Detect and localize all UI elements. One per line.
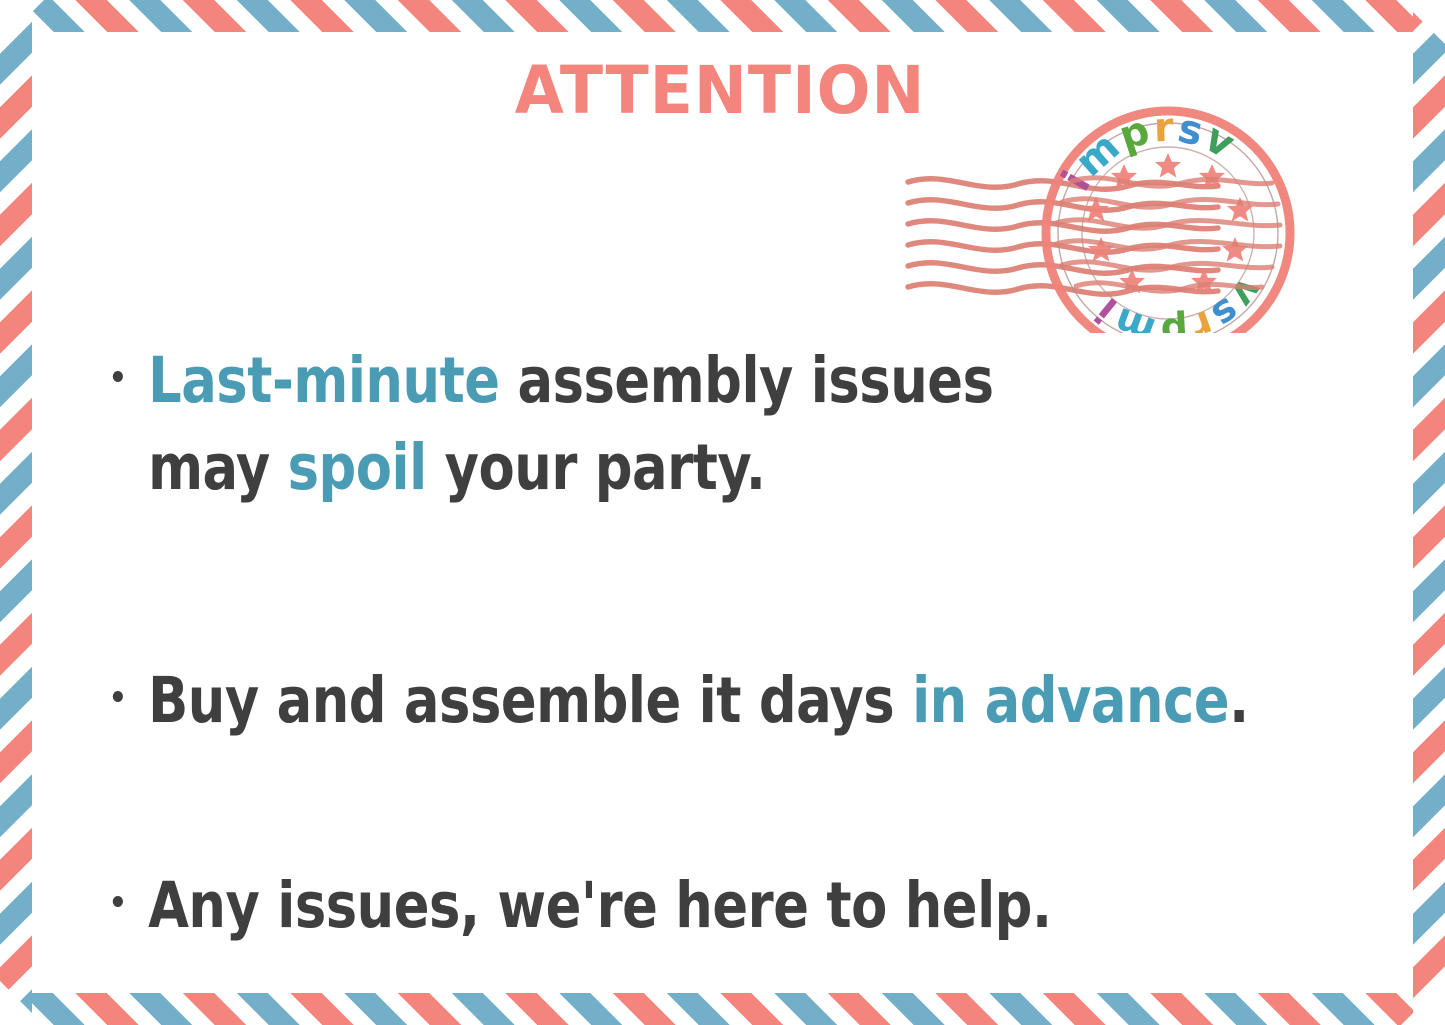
list-item: Any issues, we're here to help. <box>96 863 1305 950</box>
bullet-2-text-1: Buy and assemble it days <box>148 664 912 737</box>
airmail-border-top <box>0 0 1445 32</box>
stripe-pattern <box>0 0 32 1025</box>
bullet-marker-icon <box>113 896 123 907</box>
postmark-stamp: imprsv vsrpmi <box>900 78 1370 333</box>
bullet-1-highlight-2: spoil <box>288 431 427 504</box>
list-item: Buy and assemble it days in advance. <box>96 658 1305 745</box>
stamp-brand-bottom: vsrpmi <box>1086 270 1272 333</box>
bullet-1-text-1: assembly issues <box>500 344 994 417</box>
stripe-pattern <box>1413 0 1445 1025</box>
bullet-marker-icon <box>113 691 123 702</box>
stripe-pattern <box>0 993 1445 1025</box>
bullet-1-text-3: your party. <box>427 431 766 504</box>
page-title-text: ATTENTION <box>515 52 926 129</box>
cancellation-waves <box>908 179 1218 294</box>
airmail-border-bottom <box>0 993 1445 1025</box>
airmail-border-right <box>1413 0 1445 1025</box>
bullet-1-text-2: may <box>148 431 288 504</box>
bullet-3-text-1: Any issues, we're here to help. <box>148 869 1051 942</box>
bullet-1-highlight-1: Last-minute <box>148 344 500 417</box>
airmail-border-left <box>0 0 32 1025</box>
bullet-list: Last-minute assembly issues may spoil yo… <box>96 338 1396 950</box>
attention-notice-card: ATTENTION <box>0 0 1445 1025</box>
stripe-pattern <box>0 0 1445 32</box>
bullet-marker-icon <box>113 371 123 382</box>
list-item: Last-minute assembly issues may spoil yo… <box>96 338 1305 512</box>
bullet-2-text-2: . <box>1229 664 1249 737</box>
bullet-2-highlight-1: in advance <box>912 664 1229 737</box>
